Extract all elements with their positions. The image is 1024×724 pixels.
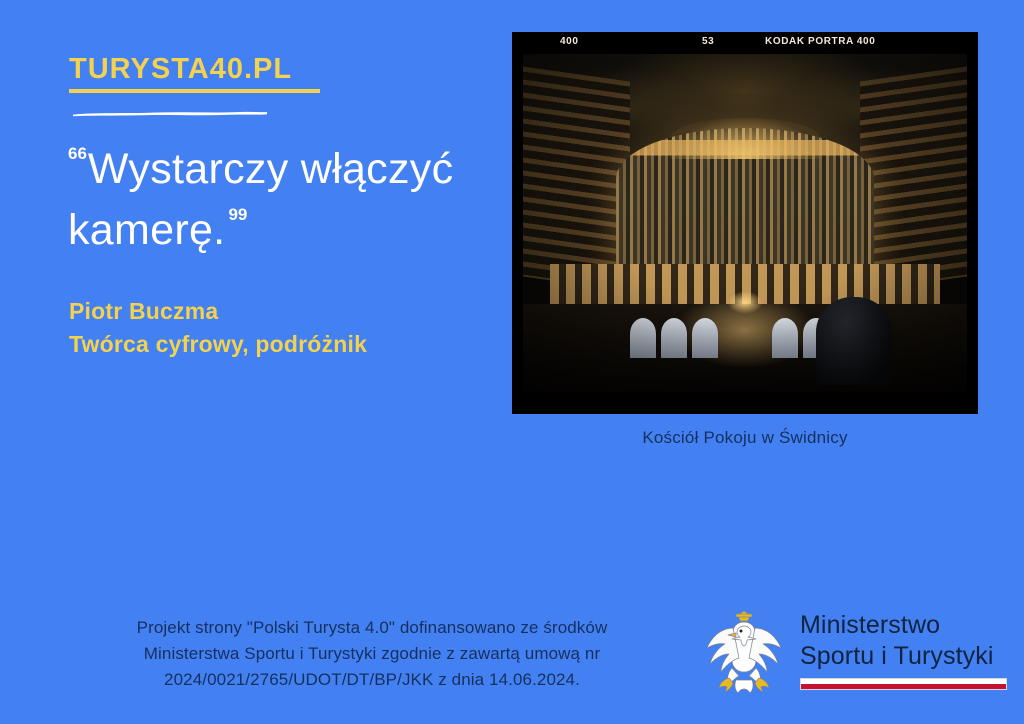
slide-canvas: TURYSTA40.PL 66Wystarczy włączyć kamerę.… <box>0 0 1024 724</box>
film-mark-center: 53 <box>702 36 714 47</box>
ministry-name-line-1: Ministerstwo <box>800 610 1007 641</box>
photo-frame: 400 53 KODAK PORTRA 400 <box>512 32 978 414</box>
polish-flag-bar <box>800 678 1007 690</box>
photo-vignette <box>523 54 967 392</box>
quote-text: 66Wystarczy włączyć kamerę.99 <box>68 139 498 261</box>
quote-close-mark: 99 <box>228 205 247 224</box>
funding-line-1: Projekt strony "Polski Turysta 4.0" dofi… <box>62 615 682 641</box>
ministry-name-line-2: Sportu i Turystyki <box>800 641 1007 672</box>
polish-eagle-icon <box>702 602 786 698</box>
church-interior-photo <box>523 54 967 392</box>
film-edge-markings: 400 53 KODAK PORTRA 400 <box>512 32 978 54</box>
ministry-name-block: Ministerstwo Sportu i Turystyki <box>800 610 1007 690</box>
photo-caption: Kościół Pokoju w Świdnicy <box>512 428 978 448</box>
brush-stroke-decoration <box>72 110 268 117</box>
quote-body: Wystarczy włączyć kamerę. <box>68 145 453 254</box>
film-mark-left: 400 <box>560 36 579 47</box>
brand-underline <box>69 89 320 93</box>
brand-block: TURYSTA40.PL <box>69 55 489 93</box>
film-mark-right: KODAK PORTRA 400 <box>765 36 875 47</box>
brand-title: TURYSTA40.PL <box>69 55 489 84</box>
funding-line-3: 2024/0021/2765/UDOT/DT/BP/JKK z dnia 14.… <box>62 667 682 693</box>
ministry-logo: Ministerstwo Sportu i Turystyki <box>702 598 1012 702</box>
funding-line-2: Ministerstwa Sportu i Turystyki zgodnie … <box>62 641 682 667</box>
author-name: Piotr Buczma <box>69 295 367 328</box>
quote-open-mark: 66 <box>68 144 87 163</box>
author-role: Twórca cyfrowy, podróżnik <box>69 328 367 361</box>
flag-stripe-red <box>801 684 1006 689</box>
funding-statement: Projekt strony "Polski Turysta 4.0" dofi… <box>62 615 682 692</box>
author-block: Piotr Buczma Twórca cyfrowy, podróżnik <box>69 295 367 360</box>
